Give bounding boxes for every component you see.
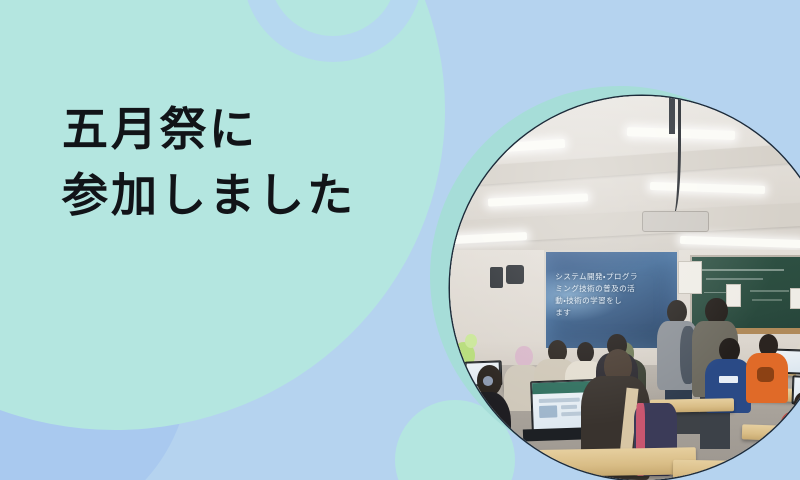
decorative-ring	[243, 0, 423, 62]
chalk-writing	[750, 290, 789, 291]
page-title-line-2: 参加しました	[62, 162, 356, 228]
shirt-logo	[719, 376, 738, 383]
browser-content-line	[561, 405, 577, 410]
browser-content-block	[539, 406, 558, 419]
ceiling-projector	[642, 211, 709, 232]
wall-speaker	[490, 267, 503, 289]
seated-person-torso	[780, 411, 800, 461]
browser-content-line	[538, 398, 579, 403]
chalk-writing	[701, 269, 784, 271]
slide-line-2: ミング技術の普及の活	[555, 283, 670, 295]
hair-accessory	[483, 376, 493, 385]
chalk-writing	[752, 299, 782, 300]
browser-content-line	[561, 411, 582, 416]
projected-slide-text: システム開発・プログラ ミング技術の普及の活 動・技術の学習をし ます	[555, 271, 670, 319]
decorative-circle-periwinkle	[0, 195, 190, 480]
wall-poster	[726, 284, 740, 307]
hero-banner: 五月祭に 参加しました シス	[0, 0, 800, 480]
foreground-desk	[673, 459, 800, 480]
slide-line-3: 動・技術の学習をし	[555, 295, 670, 307]
page-title: 五月祭に 参加しました	[62, 96, 356, 228]
wall-speaker	[506, 265, 524, 284]
slide-line-1: システム開発・プログラ	[555, 271, 670, 283]
projector-mount	[669, 96, 675, 134]
page-title-line-1: 五月祭に	[62, 96, 356, 162]
shirt-graphic	[757, 367, 774, 382]
wall-poster	[678, 261, 701, 294]
ceiling	[450, 96, 800, 273]
wall-poster	[790, 288, 800, 309]
chalk-writing	[706, 278, 764, 279]
classroom-photo: システム開発・プログラ ミング技術の普及の活 動・技術の学習をし ます	[450, 96, 800, 480]
slide-line-4: ます	[555, 307, 670, 319]
foreground-desk	[496, 448, 696, 478]
balloon	[465, 334, 477, 348]
classroom-scene: システム開発・プログラ ミング技術の普及の活 動・技術の学習をし ます	[450, 96, 800, 480]
seated-person-head	[515, 346, 533, 368]
